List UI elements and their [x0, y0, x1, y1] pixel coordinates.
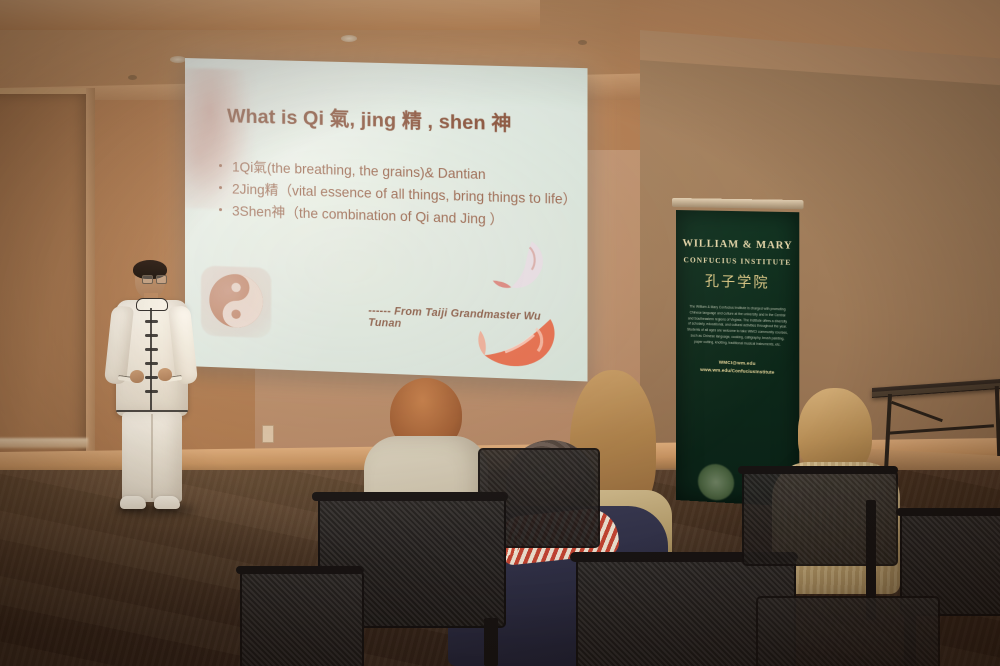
chair-rail: [236, 566, 364, 574]
slide-bullet-list: 1Qi氣(the breathing, the grains)& Dantian…: [215, 157, 581, 234]
ceiling-sensor-icon: [578, 40, 587, 45]
bullet-text: 1Qi氣(the breathing, the grains)& Dantian: [232, 159, 486, 182]
door-alcove: [0, 92, 90, 467]
presenter-shoe-right: [154, 496, 180, 509]
frog-button-icon: [145, 390, 158, 393]
bullet-dot-icon: [219, 164, 222, 167]
banner-body-text: The William & Mary Confucius Institute i…: [687, 304, 788, 348]
bullet-dot-icon: [219, 186, 222, 189]
lens-right: [156, 275, 167, 284]
frog-button-icon: [145, 348, 158, 351]
slide-canvas: What is Qi 氣, jing 精 , shen 神 1Qi氣(the b…: [185, 58, 588, 381]
presenter-shoe-left: [120, 496, 146, 509]
recessed-light-icon: [170, 56, 186, 63]
eyeglasses-icon: [142, 275, 166, 282]
william-and-mary-seal-icon: [698, 463, 734, 501]
chair-rail: [896, 508, 1000, 516]
lecture-room-photo: What is Qi 氣, jing 精 , shen 神 1Qi氣(the b…: [0, 0, 1000, 666]
frog-button-icon: [145, 376, 158, 379]
banner-top-rail: [672, 198, 803, 209]
presenter: [106, 262, 198, 514]
alcove-floor-light: [0, 438, 88, 448]
projection-screen: What is Qi 氣, jing 精 , shen 神 1Qi氣(the b…: [185, 58, 588, 381]
frog-button-icon: [145, 362, 158, 365]
alcove-frame: [86, 88, 95, 470]
bullet-dot-icon: [219, 208, 222, 211]
yin-yang-plate: [201, 266, 271, 339]
slide-title: What is Qi 氣, jing 精 , shen 神: [227, 106, 563, 137]
koi-fish-orange-icon: [474, 306, 564, 376]
chair[interactable]: [756, 596, 940, 666]
banner-chinese-title: 孔子学院: [676, 270, 799, 294]
banner-website: www.wm.edu/ConfuciusInstitute: [676, 366, 799, 376]
lens-left: [142, 275, 153, 284]
koi-fish-white-icon: [487, 236, 555, 301]
frog-button-icon: [145, 320, 158, 323]
frog-button-icon: [145, 334, 158, 337]
alcove-header: [0, 88, 95, 94]
trouser-seam: [151, 414, 153, 498]
chair-rail: [738, 466, 898, 474]
recessed-light-icon: [341, 35, 357, 42]
banner-institute-title: CONFUCIUS INSTITUTE: [676, 255, 799, 267]
banner-org-title: WILLIAM & MARY: [676, 238, 799, 252]
wall-outlet-icon: [262, 425, 274, 443]
chair[interactable]: [240, 570, 364, 666]
chair-leg: [484, 618, 498, 666]
mandarin-collar: [136, 298, 168, 311]
ceiling-vent-icon: [128, 75, 137, 80]
presenter-hand-right: [158, 368, 172, 381]
presenter-hand-left: [130, 370, 144, 383]
yin-yang-icon: [207, 271, 265, 331]
chair-rail: [312, 492, 508, 501]
ceiling-soffit: [0, 0, 540, 30]
jacket-placket: [150, 308, 152, 410]
bullet-text: 3Shen神（the combination of Qi and Jing ）: [232, 203, 503, 227]
